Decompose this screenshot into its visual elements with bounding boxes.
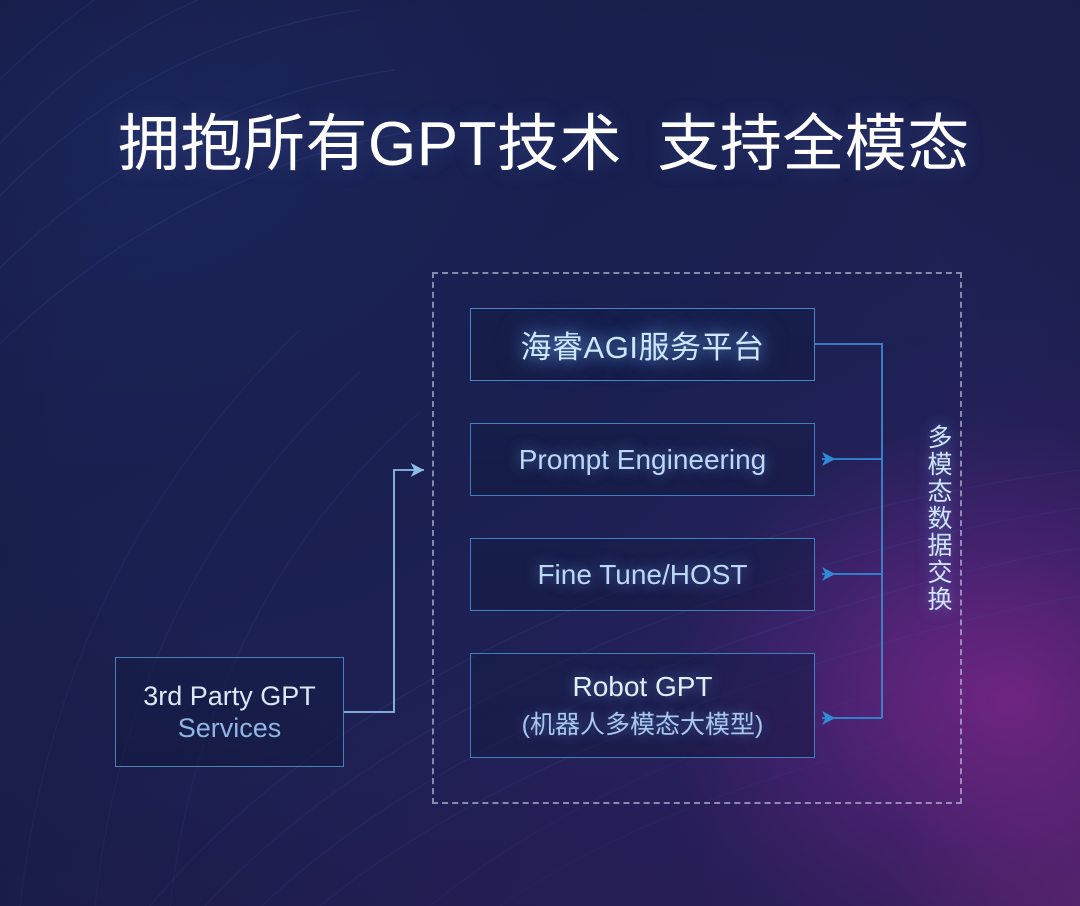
node-label-line1: Prompt Engineering [519, 444, 766, 476]
node-third-party-gpt-services[interactable]: 3rd Party GPT Services [115, 657, 344, 767]
side-label-multimodal-exchange: 多模态数据交换 [917, 424, 951, 613]
node-label-line1: Fine Tune/HOST [537, 559, 747, 591]
node-fine-tune-host[interactable]: Fine Tune/HOST [470, 538, 815, 611]
node-label-line1: Robot GPT [572, 671, 712, 703]
node-label-line2: Services [178, 713, 282, 744]
node-agi-platform[interactable]: 海睿AGI服务平台 [470, 308, 815, 381]
node-label-line2: (机器人多模态大模型) [522, 705, 764, 741]
slide-canvas: 拥抱所有GPT技术 支持全模态 [0, 0, 1080, 906]
node-label-line1: 3rd Party GPT [143, 681, 316, 712]
node-label-line1: 海睿AGI服务平台 [521, 322, 765, 367]
node-robot-gpt[interactable]: Robot GPT (机器人多模态大模型) [470, 653, 815, 758]
node-prompt-engineering[interactable]: Prompt Engineering [470, 423, 815, 496]
page-title: 拥抱所有GPT技术 支持全模态 [118, 110, 970, 179]
